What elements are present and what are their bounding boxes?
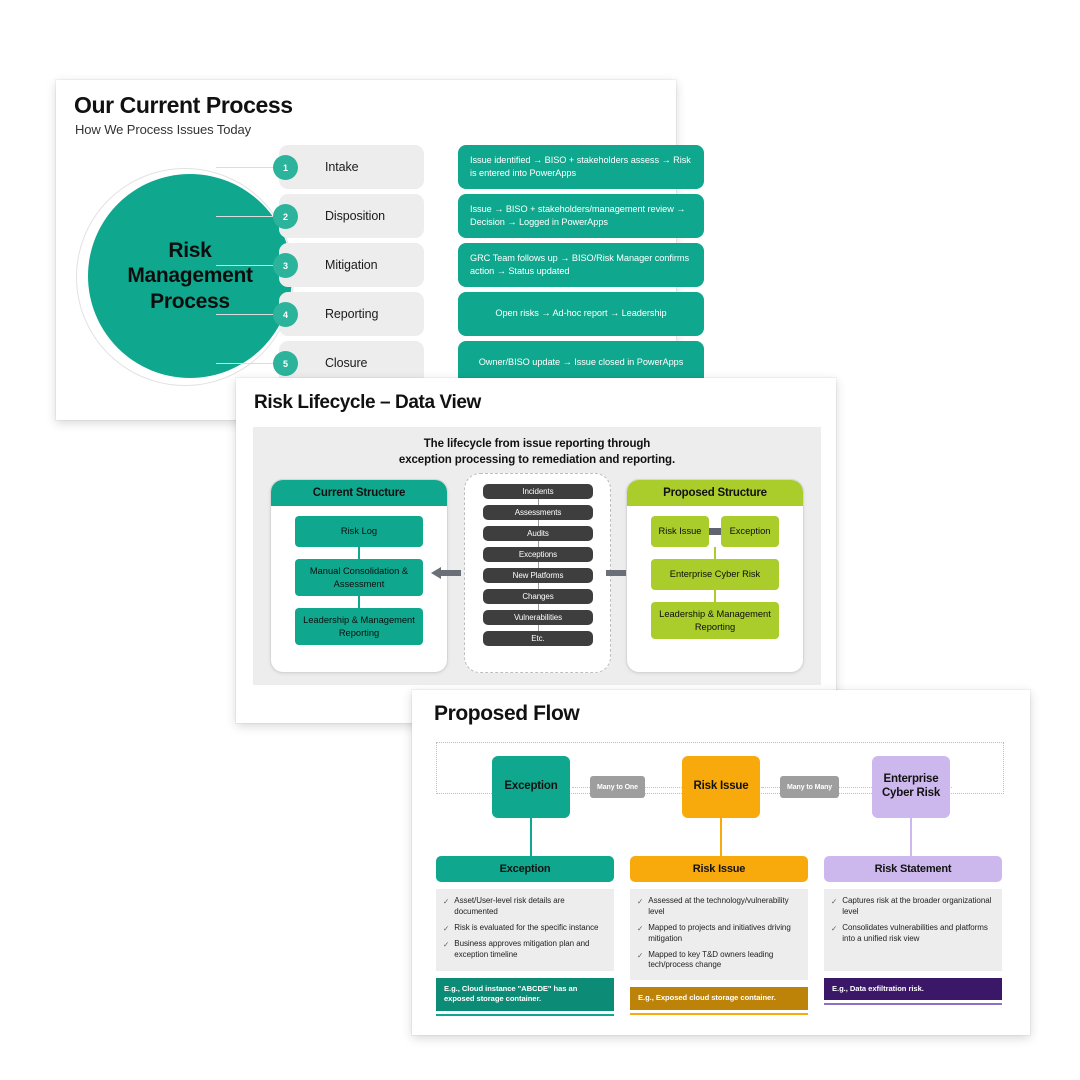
step-connector-line: [216, 167, 276, 168]
flow-node-risk-issue-label: Risk Issue: [694, 780, 749, 794]
detail-column-risk-statement[interactable]: Risk Statement✓Captures risk at the broa…: [824, 856, 1002, 1005]
connector-line: [714, 547, 716, 559]
check-icon: ✓: [443, 939, 449, 961]
check-icon: ✓: [637, 950, 643, 972]
proposed-structure-card[interactable]: Proposed Structure Risk Issue Exception …: [626, 479, 804, 673]
slide-risk-lifecycle-data-view[interactable]: Risk Lifecycle – Data View The lifecycle…: [236, 378, 836, 723]
input-sources-container: IncidentsAssessmentsAuditsExceptionsNew …: [464, 473, 611, 673]
input-source-pill[interactable]: Exceptions: [483, 547, 593, 562]
relation-tag-many-to-many: Many to Many: [780, 776, 839, 798]
connector-line: [358, 547, 360, 559]
relation-tag-many-to-one: Many to One: [590, 776, 645, 798]
flow-node-exception[interactable]: Exception: [492, 756, 570, 818]
list-item-text: Consolidates vulnerabilities and platfor…: [842, 923, 994, 945]
current-structure-card[interactable]: Current Structure Risk Log Manual Consol…: [270, 479, 448, 673]
column-accent-line: [436, 1014, 614, 1016]
check-icon: ✓: [831, 896, 837, 918]
column-bullet-list: ✓Asset/User-level risk details are docum…: [436, 889, 614, 971]
list-item: ✓Consolidates vulnerabilities and platfo…: [831, 923, 994, 945]
box-exception[interactable]: Exception: [721, 516, 779, 547]
risk-issue-exception-pair: Risk Issue Exception: [651, 516, 779, 547]
slide-our-current-process[interactable]: Our Current Process How We Process Issue…: [56, 80, 676, 420]
list-item: ✓Assessed at the technology/vulnerabilit…: [637, 896, 800, 918]
step-stage-label: Disposition: [325, 194, 385, 238]
check-icon: ✓: [831, 923, 837, 945]
column-example: E.g., Exposed cloud storage container.: [630, 987, 808, 1009]
list-item-text: Captures risk at the broader organizatio…: [842, 896, 994, 918]
list-item: ✓Mapped to key T&D owners leading tech/p…: [637, 950, 800, 972]
step-connector-line: [216, 216, 276, 217]
input-source-pill[interactable]: Audits: [483, 526, 593, 541]
input-source-pill[interactable]: Vulnerabilities: [483, 610, 593, 625]
pair-link-icon: [709, 516, 721, 547]
flow-node-enterprise-cyber-risk[interactable]: Enterprise Cyber Risk: [872, 756, 950, 818]
proposed-structure-boxes: Risk Issue Exception Enterprise Cyber Ri…: [627, 506, 803, 639]
list-item: ✓Business approves mitigation plan and e…: [443, 939, 606, 961]
detail-column-exception[interactable]: Exception✓Asset/User-level risk details …: [436, 856, 614, 1016]
step-number-badge: 4: [273, 302, 298, 327]
step-pill[interactable]: 3Mitigation: [279, 243, 424, 287]
slide-proposed-flow[interactable]: Proposed Flow Exception Risk Issue Enter…: [412, 690, 1030, 1035]
process-step-row[interactable]: 3MitigationGRC Team follows up → BISO/Ri…: [271, 241, 667, 290]
check-icon: ✓: [637, 923, 643, 945]
slide1-title: Our Current Process: [74, 92, 293, 119]
step-pill[interactable]: 4Reporting: [279, 292, 424, 336]
box-leadership-reporting[interactable]: Leadership & Management Reporting: [295, 608, 423, 645]
slide-deck-canvas: Our Current Process How We Process Issue…: [0, 0, 1080, 1080]
process-step-list: 1IntakeIssue identified → BISO + stakeho…: [271, 143, 667, 388]
drop-connector-exception: [530, 818, 532, 856]
step-pill[interactable]: 2Disposition: [279, 194, 424, 238]
circle-label-line-3: Process: [150, 290, 230, 313]
column-accent-line: [824, 1003, 1002, 1005]
step-number-badge: 5: [273, 351, 298, 376]
box-risk-issue[interactable]: Risk Issue: [651, 516, 709, 547]
input-source-pill[interactable]: New Platforms: [483, 568, 593, 583]
column-heading: Risk Statement: [824, 856, 1002, 882]
list-item-text: Mapped to key T&D owners leading tech/pr…: [648, 950, 800, 972]
step-number-badge: 1: [273, 155, 298, 180]
flow-node-risk-issue[interactable]: Risk Issue: [682, 756, 760, 818]
column-heading: Exception: [436, 856, 614, 882]
lifecycle-caption: The lifecycle from issue reporting throu…: [253, 437, 821, 468]
box-manual-consolidation[interactable]: Manual Consolidation & Assessment: [295, 559, 423, 596]
flow-node-ecr-label: Enterprise Cyber Risk: [872, 773, 950, 801]
column-bullet-list: ✓Assessed at the technology/vulnerabilit…: [630, 889, 808, 980]
step-description: GRC Team follows up → BISO/Risk Manager …: [458, 243, 704, 287]
input-source-pill[interactable]: Incidents: [483, 484, 593, 499]
process-step-row[interactable]: 2DispositionIssue → BISO + stakeholders/…: [271, 192, 667, 241]
column-example: E.g., Cloud instance "ABCDE" has an expo…: [436, 978, 614, 1011]
process-step-row[interactable]: 4ReportingOpen risks → Ad-hoc report → L…: [271, 290, 667, 339]
input-source-pill[interactable]: Assessments: [483, 505, 593, 520]
step-connector-line: [216, 265, 276, 266]
step-connector-line: [216, 363, 276, 364]
input-source-pill[interactable]: Changes: [483, 589, 593, 604]
step-pill[interactable]: 1Intake: [279, 145, 424, 189]
connector-line: [714, 590, 716, 602]
list-item: ✓Captures risk at the broader organizati…: [831, 896, 994, 918]
step-stage-label: Intake: [325, 145, 358, 189]
list-item-text: Risk is evaluated for the specific insta…: [454, 923, 598, 934]
slide1-subtitle: How We Process Issues Today: [75, 122, 251, 137]
caption-line-2: exception processing to remediation and …: [399, 454, 675, 466]
list-item: ✓Mapped to projects and initiatives driv…: [637, 923, 800, 945]
detail-column-risk-issue[interactable]: Risk Issue✓Assessed at the technology/vu…: [630, 856, 808, 1015]
process-circle: Risk Management Process: [88, 174, 292, 378]
check-icon: ✓: [443, 896, 449, 918]
list-item: ✓Risk is evaluated for the specific inst…: [443, 923, 606, 934]
box-leadership-reporting-proposed[interactable]: Leadership & Management Reporting: [651, 602, 779, 639]
caption-line-1: The lifecycle from issue reporting throu…: [424, 438, 650, 450]
drop-connector-risk-issue: [720, 818, 722, 856]
proposed-structure-heading: Proposed Structure: [627, 480, 803, 506]
step-description: Issue identified → BISO + stakeholders a…: [458, 145, 704, 189]
current-structure-boxes: Risk Log Manual Consolidation & Assessme…: [271, 506, 447, 645]
box-risk-log[interactable]: Risk Log: [295, 516, 423, 547]
connector-line: [358, 596, 360, 608]
circle-label-line-2: Management: [127, 264, 252, 287]
list-item-text: Asset/User-level risk details are docume…: [454, 896, 606, 918]
slide3-title: Proposed Flow: [434, 702, 579, 726]
current-structure-heading: Current Structure: [271, 480, 447, 506]
step-number-badge: 3: [273, 253, 298, 278]
check-icon: ✓: [443, 923, 449, 934]
column-accent-line: [630, 1013, 808, 1015]
list-item-text: Business approves mitigation plan and ex…: [454, 939, 606, 961]
column-example: E.g., Data exfiltration risk.: [824, 978, 1002, 1000]
list-item-text: Assessed at the technology/vulnerability…: [648, 896, 800, 918]
lifecycle-panel: The lifecycle from issue reporting throu…: [253, 427, 821, 685]
step-description: Open risks → Ad-hoc report → Leadership: [458, 292, 704, 336]
input-source-pill[interactable]: Etc.: [483, 631, 593, 646]
column-bullet-list: ✓Captures risk at the broader organizati…: [824, 889, 1002, 971]
list-item-text: Mapped to projects and initiatives drivi…: [648, 923, 800, 945]
slide2-title: Risk Lifecycle – Data View: [254, 392, 481, 414]
check-icon: ✓: [637, 896, 643, 918]
step-description: Issue → BISO + stakeholders/management r…: [458, 194, 704, 238]
step-connector-line: [216, 314, 276, 315]
circle-label-line-1: Risk: [168, 239, 211, 262]
flow-node-exception-label: Exception: [504, 780, 557, 794]
step-stage-label: Reporting: [325, 292, 378, 336]
column-heading: Risk Issue: [630, 856, 808, 882]
step-stage-label: Mitigation: [325, 243, 378, 287]
process-step-row[interactable]: 1IntakeIssue identified → BISO + stakeho…: [271, 143, 667, 192]
arrow-left-icon: [431, 567, 461, 579]
box-enterprise-cyber-risk[interactable]: Enterprise Cyber Risk: [651, 559, 779, 590]
drop-connector-ecr: [910, 818, 912, 856]
input-sources-list: IncidentsAssessmentsAuditsExceptionsNew …: [483, 484, 593, 646]
list-item: ✓Asset/User-level risk details are docum…: [443, 896, 606, 918]
step-number-badge: 2: [273, 204, 298, 229]
